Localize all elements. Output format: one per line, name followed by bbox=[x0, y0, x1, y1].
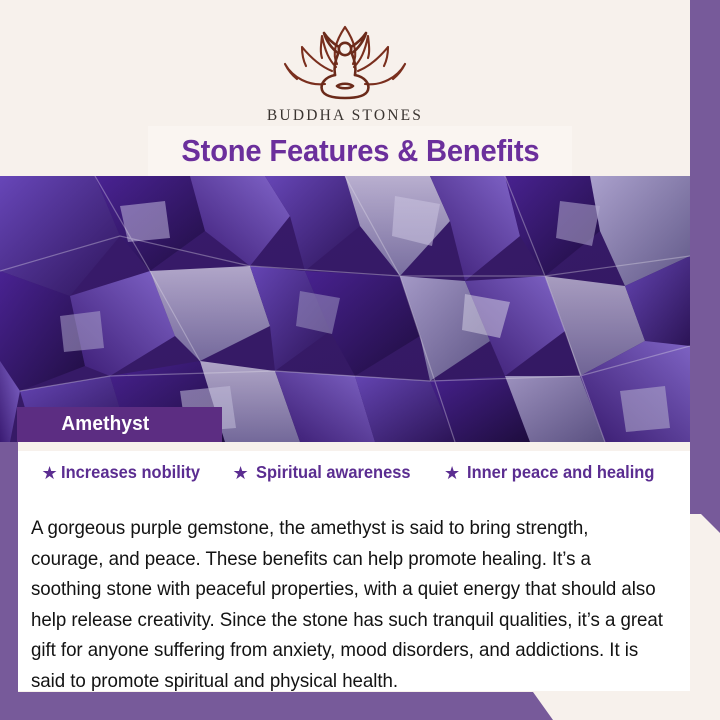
star-icon: ★ bbox=[444, 464, 460, 482]
stone-description: A gorgeous purple gemstone, the amethyst… bbox=[31, 513, 663, 696]
lotus-meditation-icon bbox=[275, 22, 415, 104]
benefit-label: Increases nobility bbox=[61, 462, 200, 483]
card-top-tint bbox=[18, 442, 690, 451]
stone-name: Amethyst bbox=[61, 413, 149, 436]
benefit-label: Spiritual awareness bbox=[256, 462, 411, 483]
benefit-item-inner-peace: ★ Inner peace and healing bbox=[444, 462, 667, 483]
stone-features-infographic: BUDDHA STONES Stone Features & Benefits bbox=[0, 0, 720, 720]
benefit-label: Inner peace and healing bbox=[467, 462, 654, 483]
benefits-list: ★ Increases nobility ★ Spiritual awarene… bbox=[18, 462, 690, 483]
amethyst-hero-image bbox=[0, 176, 690, 442]
brand-logo-block: BUDDHA STONES bbox=[0, 22, 690, 125]
page-title-banner: Stone Features & Benefits bbox=[148, 126, 572, 176]
benefit-item-spiritual-awareness: ★ Spiritual awareness bbox=[232, 462, 420, 483]
page-title: Stone Features & Benefits bbox=[181, 133, 539, 169]
star-icon: ★ bbox=[232, 464, 248, 482]
content-card: ★ Increases nobility ★ Spiritual awarene… bbox=[18, 442, 690, 691]
header-section: BUDDHA STONES Stone Features & Benefits bbox=[0, 0, 690, 176]
brand-name: BUDDHA STONES bbox=[267, 107, 423, 125]
amethyst-crystal-graphic bbox=[0, 176, 690, 442]
star-icon: ★ bbox=[41, 464, 57, 482]
stone-name-badge: Amethyst bbox=[17, 407, 222, 442]
left-purple-band bbox=[0, 437, 18, 720]
benefit-item-nobility: ★ Increases nobility bbox=[41, 462, 208, 483]
